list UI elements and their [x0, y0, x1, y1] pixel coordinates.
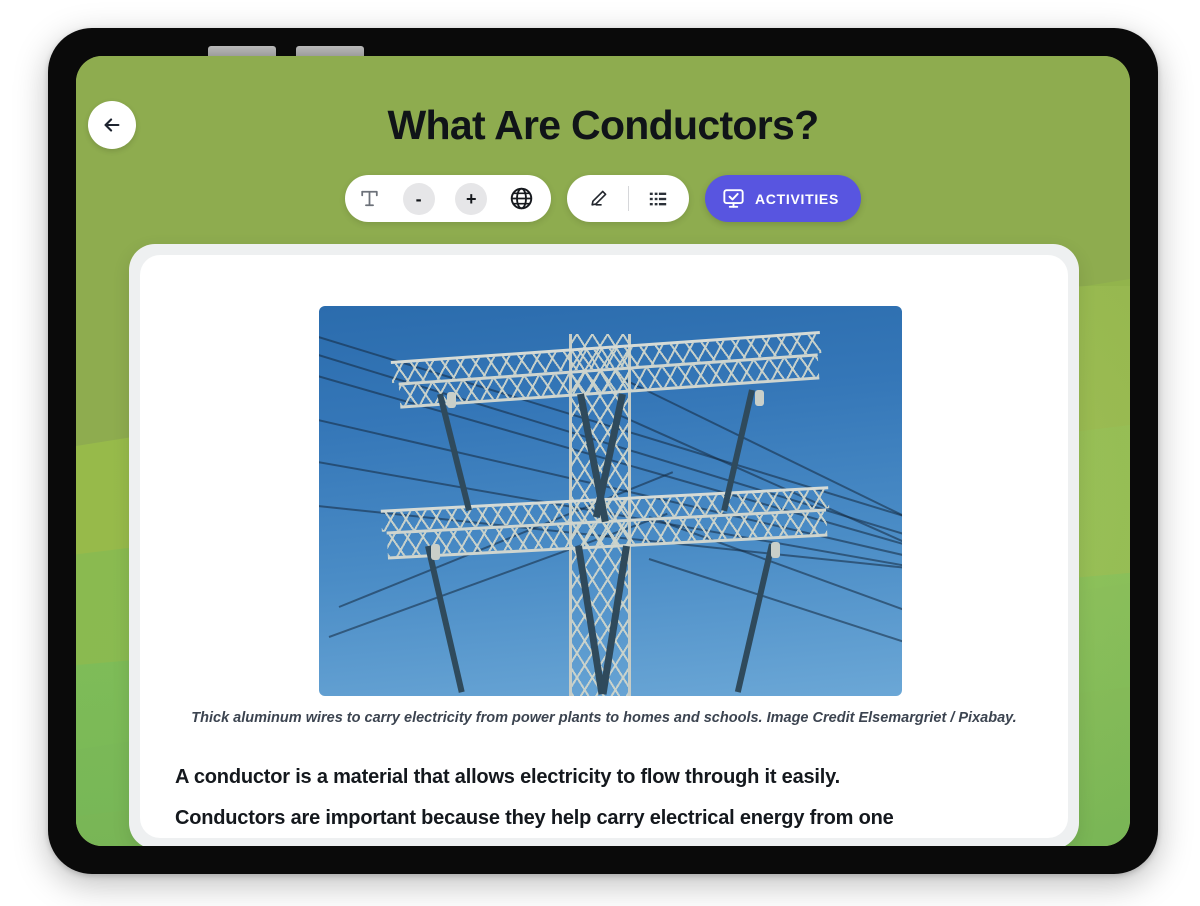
back-button[interactable] — [88, 101, 136, 149]
toolbar-divider — [628, 186, 629, 211]
lesson-toolbar: - + — [76, 175, 1130, 222]
image-caption: Thick aluminum wires to carry electricit… — [174, 707, 1034, 730]
pylon-insulator — [771, 542, 780, 558]
lesson-image[interactable] — [319, 306, 902, 696]
lesson-content-shell: Thick aluminum wires to carry electricit… — [129, 244, 1079, 846]
tablet-screen: What Are Conductors? - + — [76, 56, 1130, 846]
activities-label: ACTIVITIES — [755, 191, 839, 207]
tablet-device-frame: What Are Conductors? - + — [48, 28, 1158, 874]
lesson-paragraph: A conductor is a material that allows el… — [175, 766, 1033, 789]
pylon-insulator — [447, 392, 456, 408]
globe-icon[interactable] — [508, 185, 535, 212]
page-title: What Are Conductors? — [76, 102, 1130, 149]
lesson-paragraph: Conductors are important because they he… — [175, 807, 1033, 830]
edit-toolbar — [567, 175, 689, 222]
increase-text-size-button[interactable]: + — [455, 183, 487, 215]
list-bullet-icon[interactable] — [647, 189, 669, 209]
arrow-left-icon — [101, 114, 123, 136]
activities-button[interactable]: ACTIVITIES — [705, 175, 861, 222]
monitor-check-icon — [721, 186, 746, 211]
text-size-toolbar: - + — [345, 175, 551, 222]
pencil-icon[interactable] — [587, 187, 610, 210]
text-format-icon[interactable] — [357, 186, 382, 211]
pylon-insulator — [431, 544, 440, 560]
lesson-content-card[interactable]: Thick aluminum wires to carry electricit… — [140, 255, 1068, 838]
pylon-insulator — [755, 390, 764, 406]
decrease-text-size-button[interactable]: - — [403, 183, 435, 215]
